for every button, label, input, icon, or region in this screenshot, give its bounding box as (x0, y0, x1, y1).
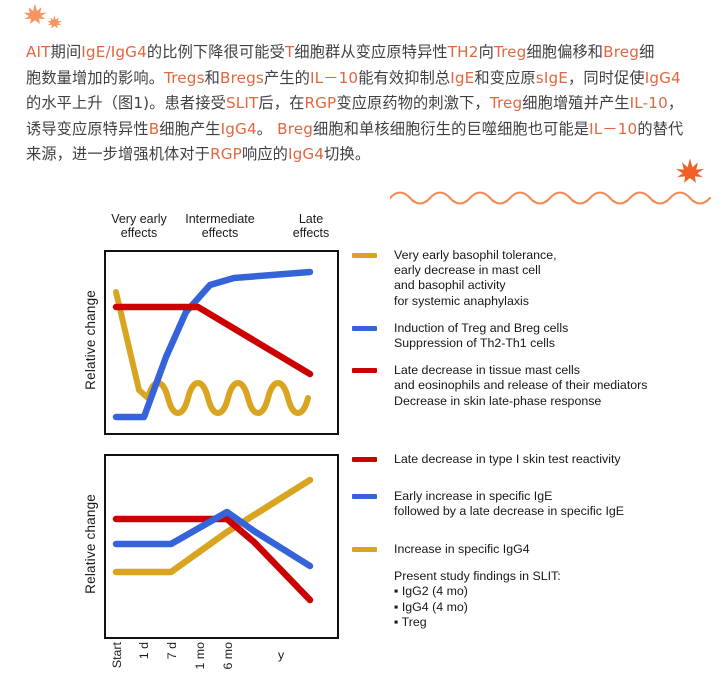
body-text: 切换。 (324, 145, 370, 163)
term-highlight: Breg (277, 120, 313, 138)
x-tick-1d: 1 d (137, 642, 151, 659)
article-line: 胞数量增加的影响。Tregs和Bregs产生的IL－10能有效抑制总IgE和变应… (26, 66, 702, 92)
x-tick-1mo: 1 mo (193, 642, 207, 670)
figure-block: Very early effects Intermediate effects … (0, 210, 726, 675)
legend-item: Increase in specific IgG4 (352, 542, 722, 557)
body-text: 能有效抑制总 (358, 69, 450, 87)
term-highlight: AIT (26, 43, 51, 61)
term-highlight: IL-10 (630, 94, 668, 112)
term-highlight: RGP (210, 145, 242, 163)
chart-panel-bottom: Relative change Start 1 d 7 d 1 mo 6 mo … (0, 442, 726, 675)
body-text: 响应的 (242, 145, 288, 163)
term-highlight: sIgE (536, 69, 568, 87)
legend-label: Late decrease in type I skin test reacti… (394, 452, 722, 467)
term-highlight: SLIT (226, 94, 258, 112)
term-highlight: IgG4 (288, 145, 324, 163)
body-text: 和 (205, 69, 220, 87)
legend-item: Early increase in specific IgE followed … (352, 489, 722, 519)
body-text: 变应原药物的刺激下， (336, 94, 489, 112)
body-text: 的替代 (637, 120, 683, 138)
body-text: 来源，进一步增强机体对于 (26, 145, 210, 163)
term-highlight: IgG4 (221, 120, 257, 138)
term-highlight: T (285, 43, 294, 61)
legend-swatch-blue (352, 326, 377, 331)
term-highlight: TH2 (448, 43, 479, 61)
body-text: 细胞偏移和 (526, 43, 603, 61)
phase-label-intermediate: Intermediate effects (164, 212, 276, 240)
body-text: ，同时促使 (568, 69, 645, 87)
legend-study-findings-note: Present study findings in SLIT: ▪ IgG2 (… (394, 569, 722, 631)
maple-leaf-small-icon (46, 14, 63, 31)
body-text: 细胞和单核细胞衍生的巨噬细胞也可能是 (313, 120, 589, 138)
x-axis-tick-labels: Start 1 d 7 d 1 mo 6 mo y (104, 642, 339, 694)
term-highlight: RGP (304, 94, 336, 112)
term-highlight: Breg (603, 43, 639, 61)
term-highlight: IgE/IgG4 (81, 43, 147, 61)
body-text: 细胞群从变应原特异性 (294, 43, 447, 61)
legend-item: Induction of Treg and Breg cells Suppres… (352, 321, 722, 351)
legend-item: Late decrease in tissue mast cells and e… (352, 363, 722, 409)
legend-item: Very early basophil tolerance, early dec… (352, 248, 722, 309)
legend-swatch-blue (352, 494, 377, 499)
body-text: 细 (639, 43, 654, 61)
phase-label-late: Late effects (280, 212, 342, 240)
x-tick-6mo: 6 mo (221, 642, 235, 670)
term-highlight: IgE (450, 69, 474, 87)
legend-swatch-gold (352, 253, 377, 258)
article-line: AIT期间IgE/IgG4的比例下降很可能受T细胞群从变应原特异性TH2向Tre… (26, 40, 702, 66)
x-tick-y: y (278, 648, 284, 662)
legend-label: Induction of Treg and Breg cells Suppres… (394, 321, 722, 351)
plot-area-bottom (104, 454, 339, 639)
body-text: 。 (257, 120, 277, 138)
legend-swatch-red (352, 457, 377, 462)
body-text: 的水平上升（图1)。患者接受 (26, 94, 226, 112)
article-line: 来源，进一步增强机体对于RGP响应的IgG4切换。 (26, 142, 702, 168)
term-highlight: IL－10 (589, 120, 637, 138)
body-text: 期间 (51, 43, 82, 61)
legend-label: Early increase in specific IgE followed … (394, 489, 722, 519)
term-highlight: Treg (490, 94, 523, 112)
article-line: 的水平上升（图1)。患者接受SLIT后，在RGP变应原药物的刺激下，Treg细胞… (26, 91, 702, 117)
legend-swatch-red (352, 368, 377, 373)
body-text: 细胞增殖并产生 (522, 94, 629, 112)
y-axis-label-top: Relative change (83, 290, 98, 390)
body-text: 产生的 (264, 69, 310, 87)
term-highlight: Bregs (220, 69, 264, 87)
term-highlight: Treg (494, 43, 527, 61)
phase-header-group: Very early effects Intermediate effects … (104, 212, 334, 252)
term-highlight: IgG4 (645, 69, 681, 87)
body-text: 和变应原 (474, 69, 535, 87)
term-highlight: Tregs (164, 69, 205, 87)
maple-leaf-icon (22, 2, 48, 28)
legend-item: Late decrease in type I skin test reacti… (352, 452, 722, 467)
plot-area-top (104, 250, 339, 435)
x-tick-start: Start (110, 642, 124, 668)
chart-panel-top: Very early effects Intermediate effects … (0, 210, 726, 442)
wave-divider (390, 183, 720, 205)
x-tick-7d: 7 d (165, 642, 179, 659)
legend-label: Very early basophil tolerance, early dec… (394, 248, 722, 309)
article-line: 诱导变应原特异性B细胞产生IgG4。 Breg细胞和单核细胞衍生的巨噬细胞也可能… (26, 117, 702, 143)
body-text: 向 (479, 43, 494, 61)
body-text: 胞数量增加的影响。 (26, 69, 164, 87)
legend-bottom: Late decrease in type I skin test reacti… (352, 452, 722, 630)
term-highlight: IL－10 (310, 69, 358, 87)
body-text: 细胞产生 (159, 120, 220, 138)
legend-label: Increase in specific IgG4 (394, 542, 722, 557)
body-text: 后，在 (258, 94, 304, 112)
body-text: 的比例下降很可能受 (147, 43, 285, 61)
y-axis-label-bottom: Relative change (83, 494, 98, 594)
body-text: ， (668, 94, 683, 112)
legend-swatch-gold (352, 547, 377, 552)
legend-label: Late decrease in tissue mast cells and e… (394, 363, 722, 409)
article-paragraph: AIT期间IgE/IgG4的比例下降很可能受T细胞群从变应原特异性TH2向Tre… (26, 40, 702, 168)
body-text: 诱导变应原特异性 (26, 120, 149, 138)
legend-top: Very early basophil tolerance, early dec… (352, 248, 722, 421)
term-highlight: B (149, 120, 160, 138)
